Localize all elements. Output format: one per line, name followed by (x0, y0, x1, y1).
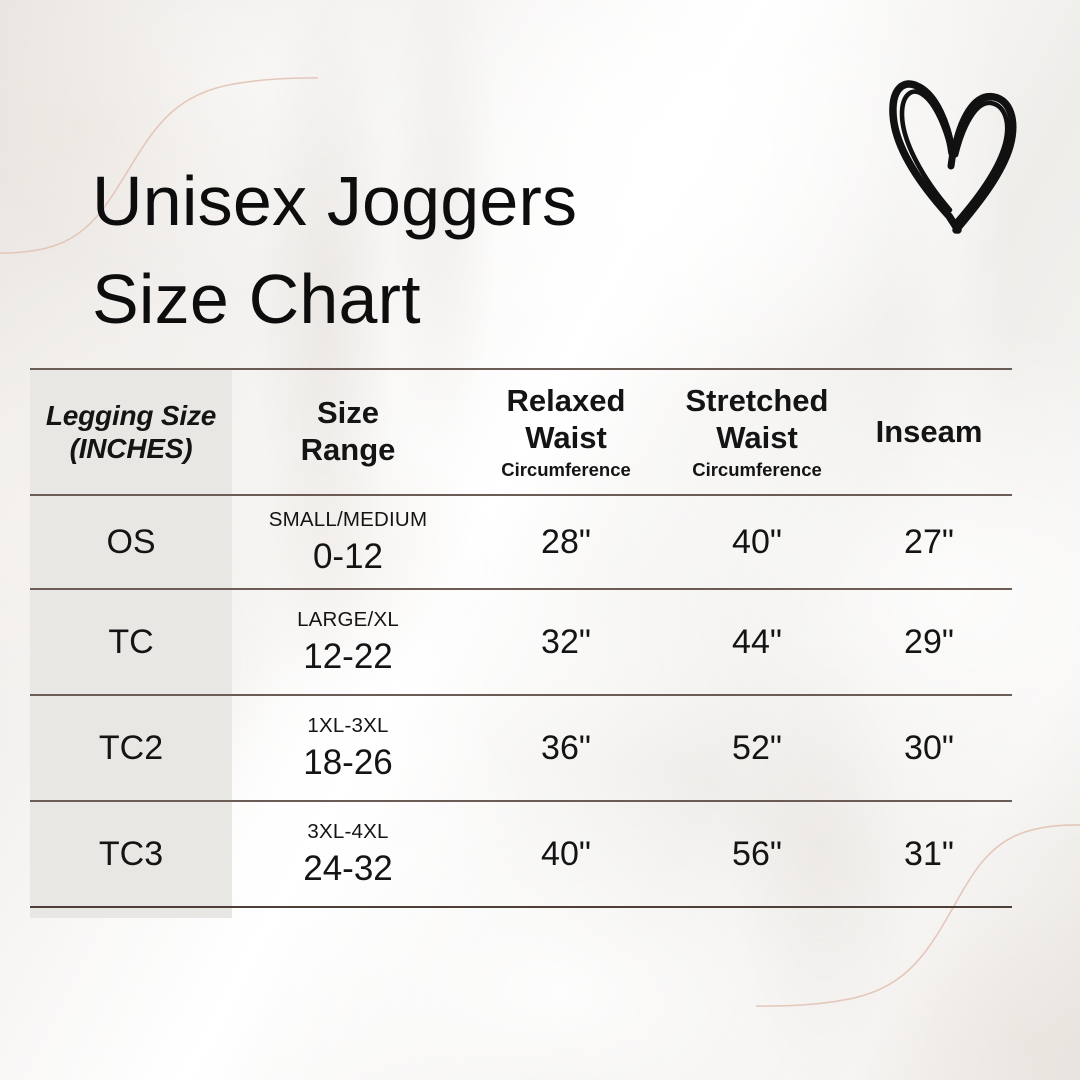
cell-inseam: 27" (846, 495, 1012, 589)
size-chart-canvas: Unisex Joggers Size Chart Legging Size (… (0, 0, 1080, 1080)
stretched-waist-title: Stretched Waist (686, 383, 829, 455)
cell-relaxed-waist: 28" (464, 495, 668, 589)
cell-legging-size: OS (30, 495, 232, 589)
relaxed-waist-subtitle: Circumference (464, 458, 668, 481)
table-head: Legging Size (INCHES) Size Range Relaxed… (30, 369, 1012, 495)
size-range-label: 3XL-4XL (232, 822, 464, 843)
cell-size-range: SMALL/MEDIUM 0-12 (232, 495, 464, 589)
cell-legging-size: TC2 (30, 695, 232, 801)
cell-inseam: 31" (846, 801, 1012, 907)
cell-relaxed-waist: 32" (464, 589, 668, 695)
heart-doodle-icon (886, 58, 1026, 248)
cell-legging-size: TC (30, 589, 232, 695)
column-header-stretched-waist: Stretched WaistCircumference (668, 369, 846, 495)
size-chart-table-wrap: Legging Size (INCHES) Size Range Relaxed… (30, 368, 1012, 908)
size-range-value: 0-12 (232, 539, 464, 574)
cell-stretched-waist: 44" (668, 589, 846, 695)
column-header-size-range: Size Range (232, 369, 464, 495)
size-chart-table: Legging Size (INCHES) Size Range Relaxed… (30, 368, 1012, 908)
cell-size-range: LARGE/XL 12-22 (232, 589, 464, 695)
cell-inseam: 29" (846, 589, 1012, 695)
size-range-label: SMALL/MEDIUM (232, 510, 464, 531)
size-range-value: 24-32 (232, 851, 464, 886)
cell-stretched-waist: 56" (668, 801, 846, 907)
size-range-label: 1XL-3XL (232, 716, 464, 737)
column-header-inseam: Inseam (846, 369, 1012, 495)
table-body: OS SMALL/MEDIUM 0-12 28" 40" 27" TC LARG… (30, 495, 1012, 907)
cell-stretched-waist: 52" (668, 695, 846, 801)
page-title: Unisex Joggers Size Chart (92, 152, 872, 348)
cell-inseam: 30" (846, 695, 1012, 801)
cell-relaxed-waist: 40" (464, 801, 668, 907)
cell-legging-size: TC3 (30, 801, 232, 907)
stretched-waist-subtitle: Circumference (668, 458, 846, 481)
column-header-relaxed-waist: Relaxed WaistCircumference (464, 369, 668, 495)
table-row: TC3 3XL-4XL 24-32 40" 56" 31" (30, 801, 1012, 907)
size-range-value: 12-22 (232, 639, 464, 674)
table-row: TC2 1XL-3XL 18-26 36" 52" 30" (30, 695, 1012, 801)
cell-size-range: 3XL-4XL 24-32 (232, 801, 464, 907)
relaxed-waist-title: Relaxed Waist (507, 383, 626, 455)
column-header-legging-size: Legging Size (INCHES) (30, 369, 232, 495)
table-row: TC LARGE/XL 12-22 32" 44" 29" (30, 589, 1012, 695)
table-row: OS SMALL/MEDIUM 0-12 28" 40" 27" (30, 495, 1012, 589)
cell-relaxed-waist: 36" (464, 695, 668, 801)
cell-size-range: 1XL-3XL 18-26 (232, 695, 464, 801)
header-row: Legging Size (INCHES) Size Range Relaxed… (30, 369, 1012, 495)
size-range-value: 18-26 (232, 745, 464, 780)
size-range-label: LARGE/XL (232, 610, 464, 631)
cell-stretched-waist: 40" (668, 495, 846, 589)
